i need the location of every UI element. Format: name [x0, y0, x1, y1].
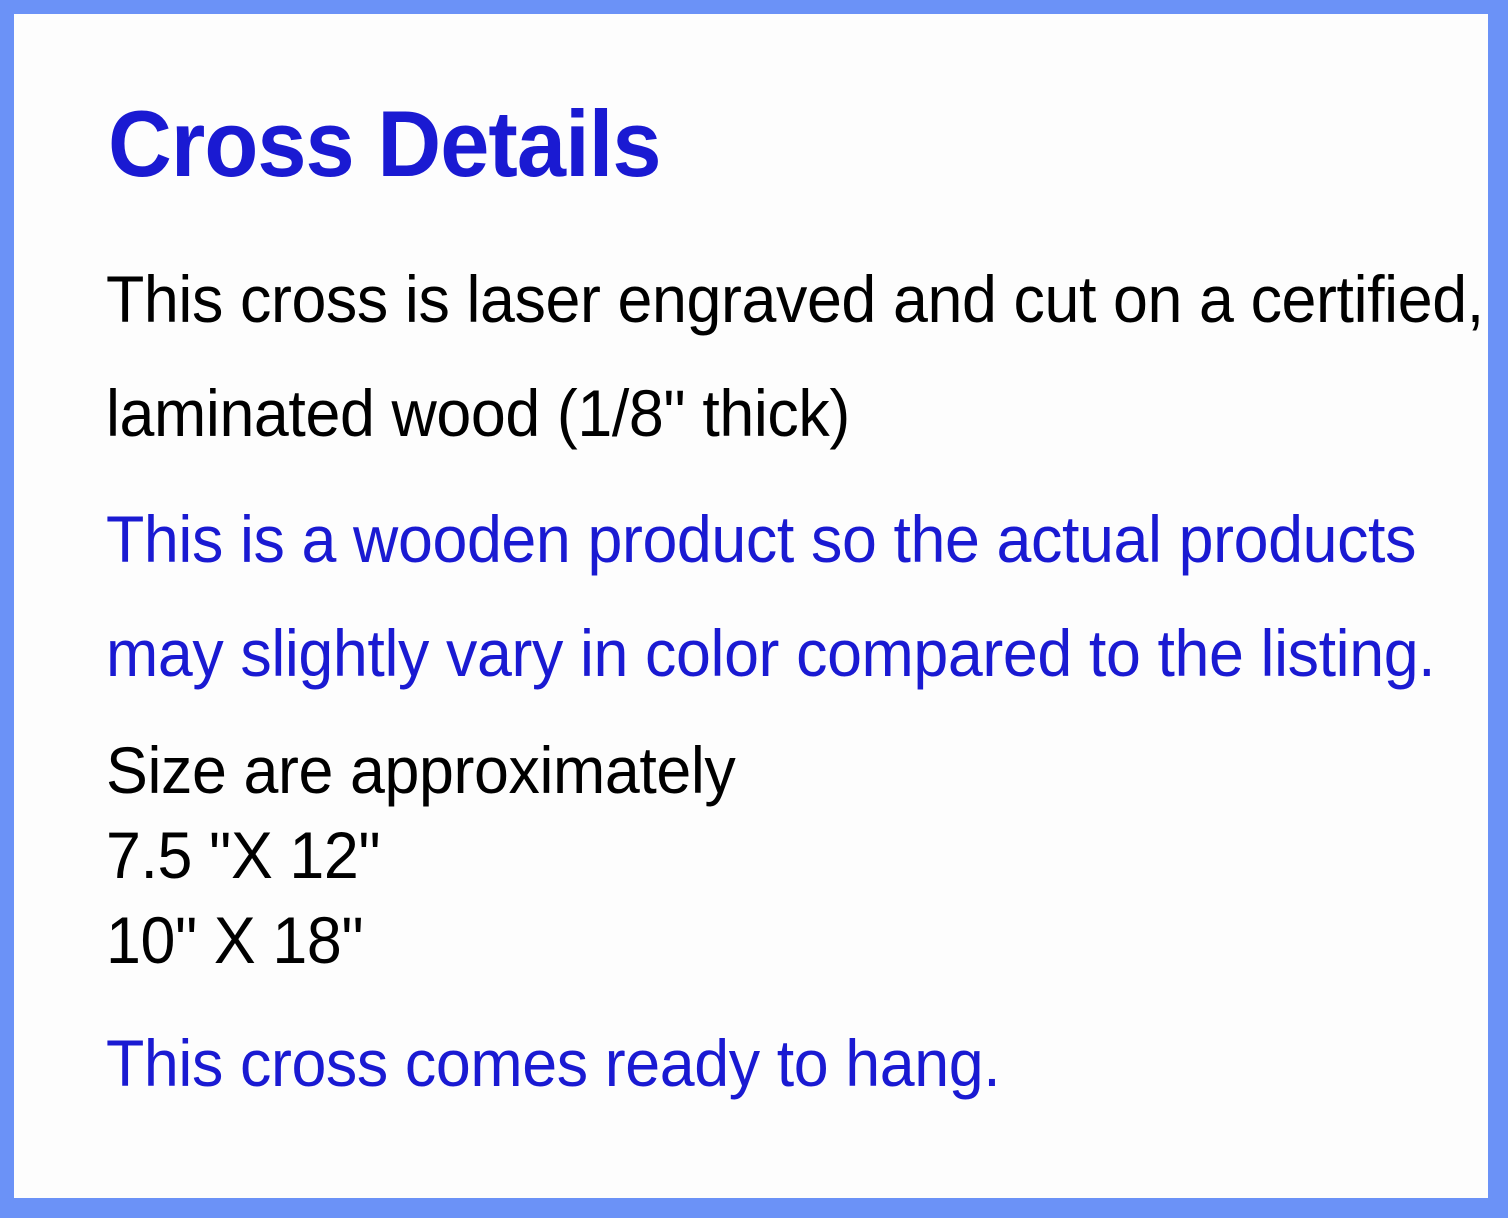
size-option-1: 7.5 "X 12" [106, 813, 1411, 898]
size-option-2: 10" X 18" [106, 898, 1411, 983]
closing-block: This cross comes ready to hang. [106, 1019, 1480, 1107]
description-paragraph: This cross is laser engraved and cut on … [106, 242, 1485, 470]
card-content: Cross Details This cross is laser engrav… [106, 92, 1480, 1107]
size-label: Size are approximately [106, 728, 1411, 813]
info-card-body: Cross Details This cross is laser engrav… [14, 14, 1488, 1198]
page-title: Cross Details [108, 92, 1398, 196]
closing-text: This cross comes ready to hang. [106, 1019, 1411, 1107]
size-block: Size are approximately 7.5 "X 12" 10" X … [106, 728, 1480, 983]
disclaimer-paragraph: This is a wooden product so the actual p… [106, 482, 1485, 710]
info-card-frame: Cross Details This cross is laser engrav… [0, 0, 1508, 1218]
